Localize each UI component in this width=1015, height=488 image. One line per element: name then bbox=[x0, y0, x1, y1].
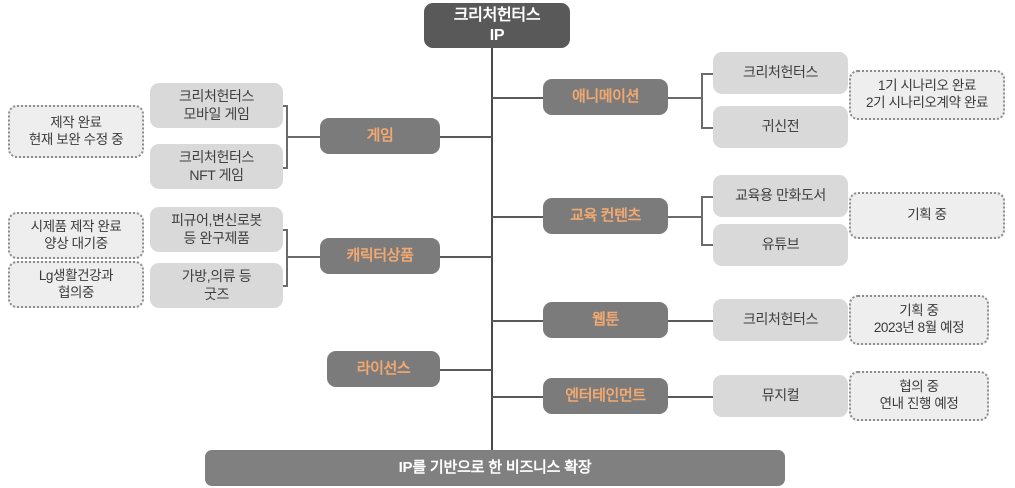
connector-entertainment-to-item bbox=[668, 396, 713, 398]
connector-spine-to-animation bbox=[491, 97, 543, 99]
item-animation-creature-hunters[interactable]: 크리처헌터스 bbox=[713, 52, 848, 94]
connector-game-bracket-vertical bbox=[286, 105, 288, 168]
connector-spine-to-entertainment bbox=[491, 396, 543, 398]
note-animation-status: 1기 시나리오 완료 2기 시나리오계약 완료 bbox=[849, 70, 1005, 120]
note-game-status: 제작 완료 현재 보완 수정 중 bbox=[8, 105, 144, 158]
category-webtoon[interactable]: 웹툰 bbox=[543, 302, 668, 338]
note-webtoon-status: 기획 중 2023년 8월 예정 bbox=[849, 295, 989, 345]
connector-animation-item-2 bbox=[701, 127, 713, 129]
connector-animation-bracket-stem bbox=[668, 97, 702, 99]
category-character-goods[interactable]: 캐릭터상품 bbox=[320, 238, 440, 274]
category-entertainment[interactable]: 엔터테인먼트 bbox=[543, 378, 668, 414]
item-education-youtube[interactable]: 유튜브 bbox=[713, 224, 848, 266]
connector-animation-item-1 bbox=[701, 73, 713, 75]
connector-education-item-2 bbox=[701, 244, 713, 246]
note-goods-lg: Lg생활건강과 협의중 bbox=[8, 261, 144, 308]
connector-education-bracket-vertical bbox=[701, 196, 703, 244]
connector-spine-to-webtoon bbox=[491, 320, 543, 322]
category-animation[interactable]: 애니메이션 bbox=[543, 79, 668, 115]
item-game-nft[interactable]: 크리처헌터스 NFT 게임 bbox=[150, 144, 283, 189]
connector-spine-to-goods bbox=[440, 256, 492, 258]
item-education-comic-book[interactable]: 교육용 만화도서 bbox=[713, 175, 848, 217]
item-entertainment-musical[interactable]: 뮤지컬 bbox=[713, 375, 848, 417]
connector-goods-bracket-stem bbox=[286, 256, 320, 258]
item-game-mobile[interactable]: 크리처헌터스 모바일 게임 bbox=[150, 83, 283, 128]
category-education[interactable]: 교육 컨텐츠 bbox=[543, 198, 668, 234]
connector-spine-to-education bbox=[491, 216, 543, 218]
diagram-canvas: 크리처헌터스 IP 게임 크리처헌터스 모바일 게임 크리처헌터스 NFT 게임… bbox=[0, 0, 1015, 488]
connector-education-bracket-stem bbox=[668, 216, 702, 218]
note-goods-prototype: 시제품 제작 완료 양상 대기중 bbox=[8, 212, 144, 259]
item-animation-ghost-story[interactable]: 귀신전 bbox=[713, 106, 848, 148]
item-goods-merch[interactable]: 가방,의류 등 굿즈 bbox=[150, 263, 283, 308]
note-education-status: 기획 중 bbox=[849, 192, 1005, 239]
category-game[interactable]: 게임 bbox=[320, 118, 440, 154]
footer-summary-bar: IP를 기반으로 한 비즈니스 확장 bbox=[205, 450, 785, 486]
connector-game-bracket-stem bbox=[286, 136, 320, 138]
connector-webtoon-to-item bbox=[668, 320, 713, 322]
item-goods-figures[interactable]: 피규어,변신로봇 등 완구제품 bbox=[150, 207, 283, 252]
connector-goods-bracket-vertical bbox=[286, 229, 288, 285]
spine-vertical bbox=[491, 47, 493, 450]
connector-education-item-1 bbox=[701, 196, 713, 198]
connector-spine-to-license bbox=[440, 369, 492, 371]
note-entertainment-status: 협의 중 연내 진행 예정 bbox=[849, 371, 989, 421]
category-license[interactable]: 라이선스 bbox=[327, 351, 440, 387]
connector-animation-bracket-vertical bbox=[701, 73, 703, 127]
root-node[interactable]: 크리처헌터스 IP bbox=[424, 3, 570, 48]
item-webtoon-creature-hunters[interactable]: 크리처헌터스 bbox=[713, 299, 848, 341]
connector-spine-to-game bbox=[440, 136, 492, 138]
